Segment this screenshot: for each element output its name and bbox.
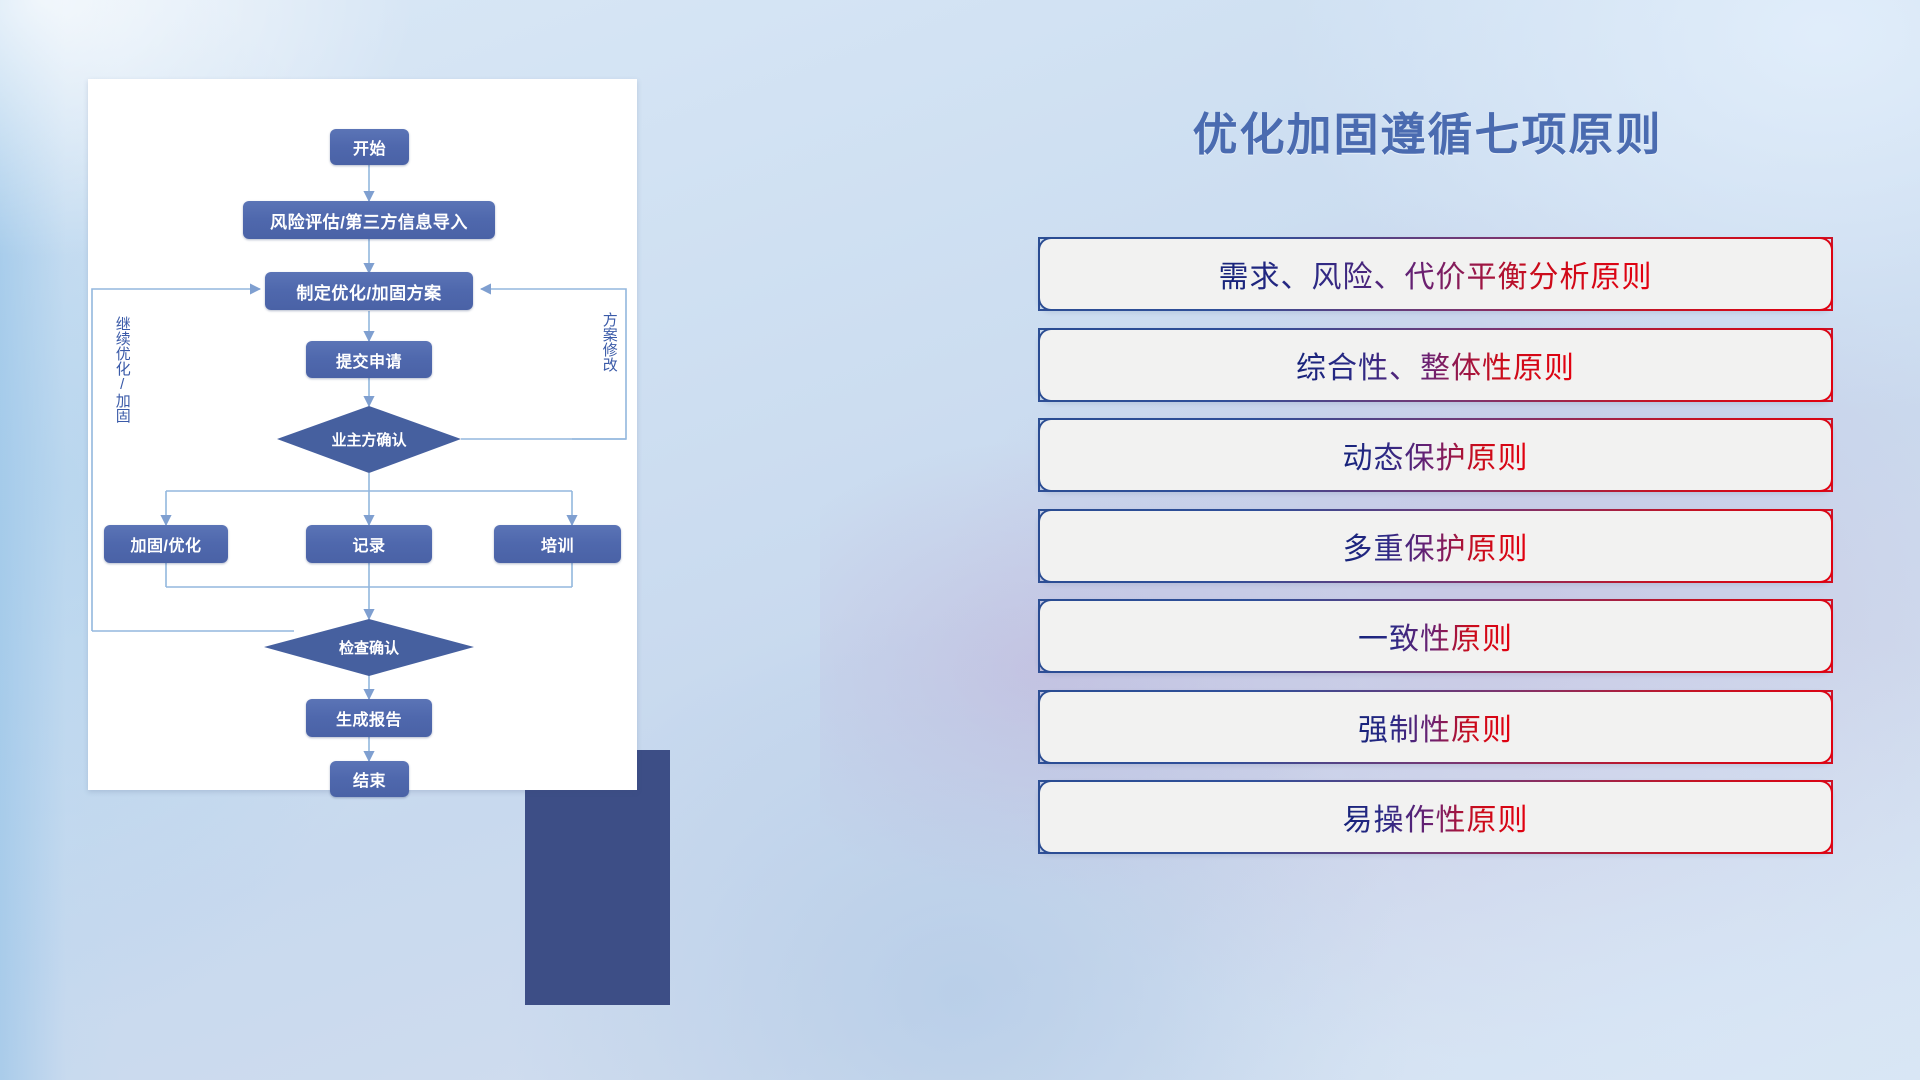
flow-node-make-plan[interactable]: 制定优化/加固方案 — [265, 272, 473, 310]
flow-node-reinforce-optimize-label: 加固/优化 — [131, 532, 202, 556]
principle-label: 一致性原则 — [1358, 614, 1513, 658]
principle-label: 易操作性原则 — [1343, 795, 1529, 839]
flow-node-generate-report[interactable]: 生成报告 — [306, 699, 432, 737]
flowchart-card: 开始 风险评估/第三方信息导入 制定优化/加固方案 提交申请 业主方确认 加固/… — [88, 79, 637, 790]
principle-label: 多重保护原则 — [1343, 524, 1529, 568]
decision-check-confirm-shape — [264, 619, 474, 676]
principle-card[interactable]: 强制性原则 — [1038, 690, 1833, 764]
flow-node-training-label: 培训 — [541, 532, 574, 556]
flow-node-start-label: 开始 — [353, 135, 386, 159]
principle-label: 综合性、整体性原则 — [1296, 343, 1575, 387]
flow-edge-label-left-loop: 继续优化/加固 — [114, 316, 130, 423]
flow-node-training[interactable]: 培训 — [494, 525, 621, 563]
principles-title: 优化加固遵循七项原则 — [1020, 98, 1835, 163]
principle-label: 动态保护原则 — [1343, 433, 1529, 477]
principle-card[interactable]: 综合性、整体性原则 — [1038, 328, 1833, 402]
flow-node-reinforce-optimize[interactable]: 加固/优化 — [104, 525, 228, 563]
flow-node-risk-assessment[interactable]: 风险评估/第三方信息导入 — [243, 201, 495, 239]
principles-panel: 优化加固遵循七项原则 需求、风险、代价平衡分析原则 综合性、整体性原则 动态保护… — [1020, 0, 1920, 1080]
flow-node-start[interactable]: 开始 — [330, 129, 409, 165]
flow-node-end[interactable]: 结束 — [330, 761, 409, 797]
principle-label: 强制性原则 — [1358, 705, 1513, 749]
flow-node-generate-report-label: 生成报告 — [336, 706, 402, 730]
flow-node-make-plan-label: 制定优化/加固方案 — [296, 279, 441, 304]
principle-card[interactable]: 易操作性原则 — [1038, 780, 1833, 854]
principle-card[interactable]: 动态保护原则 — [1038, 418, 1833, 492]
decision-owner-confirm-shape — [277, 406, 461, 473]
flow-edge-label-right-loop: 方案修改 — [601, 312, 617, 372]
flow-node-submit-application[interactable]: 提交申请 — [306, 341, 432, 378]
principle-card[interactable]: 需求、风险、代价平衡分析原则 — [1038, 237, 1833, 311]
flow-node-submit-application-label: 提交申请 — [336, 348, 402, 372]
principle-card[interactable]: 多重保护原则 — [1038, 509, 1833, 583]
principle-label: 需求、风险、代价平衡分析原则 — [1219, 252, 1653, 296]
flow-node-risk-assessment-label: 风险评估/第三方信息导入 — [270, 208, 468, 233]
flow-node-record-label: 记录 — [352, 532, 385, 556]
principles-list: 需求、风险、代价平衡分析原则 综合性、整体性原则 动态保护原则 多重保护原则 一… — [1038, 237, 1838, 871]
flow-node-end-label: 结束 — [353, 767, 386, 791]
flow-node-record[interactable]: 记录 — [306, 525, 432, 563]
flowchart-connectors — [88, 79, 637, 790]
principle-card[interactable]: 一致性原则 — [1038, 599, 1833, 673]
